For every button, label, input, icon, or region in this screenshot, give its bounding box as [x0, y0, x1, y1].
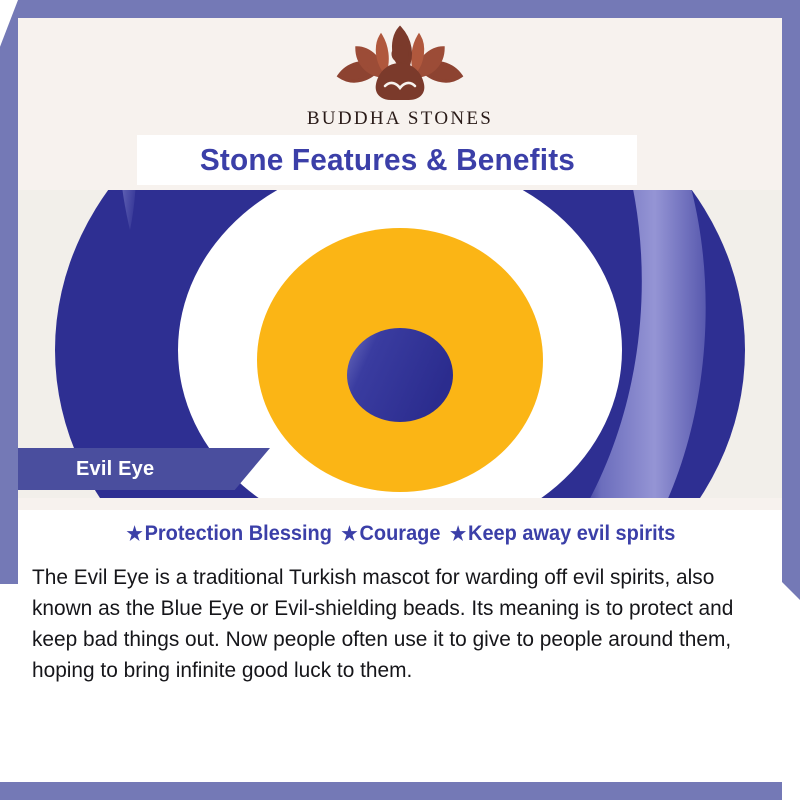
lotus-meditation-icon — [325, 24, 475, 106]
poster-canvas: BUDDHA STONES Stone Features & Benefits — [0, 0, 800, 800]
feature-item-1: Courage — [360, 522, 441, 545]
hero-bottom-strip — [18, 498, 782, 510]
star-icon: ★ — [341, 524, 357, 545]
hero-label-text: Evil Eye — [76, 458, 154, 481]
star-icon: ★ — [126, 524, 142, 545]
frame-bar-top — [18, 0, 782, 18]
hero-label-ribbon: Evil Eye — [18, 448, 270, 490]
brand-name: BUDDHA STONES — [307, 108, 493, 130]
description-text: The Evil Eye is a traditional Turkish ma… — [32, 562, 748, 686]
title-band: Stone Features & Benefits — [137, 135, 637, 185]
frame-bar-right — [782, 0, 800, 600]
brand-logo: BUDDHA STONES — [18, 24, 782, 144]
frame-bar-bottom — [0, 782, 782, 800]
body-panel: ★Protection Blessing★Courage★Keep away e… — [18, 510, 782, 782]
frame-bar-left — [0, 0, 18, 584]
page-title: Stone Features & Benefits — [199, 142, 574, 178]
feature-item-2: Keep away evil spirits — [468, 522, 675, 545]
eye-pupil — [347, 328, 453, 422]
features-row: ★Protection Blessing★Courage★Keep away e… — [37, 522, 763, 546]
feature-item-0: Protection Blessing — [145, 522, 332, 545]
star-icon: ★ — [450, 524, 466, 545]
